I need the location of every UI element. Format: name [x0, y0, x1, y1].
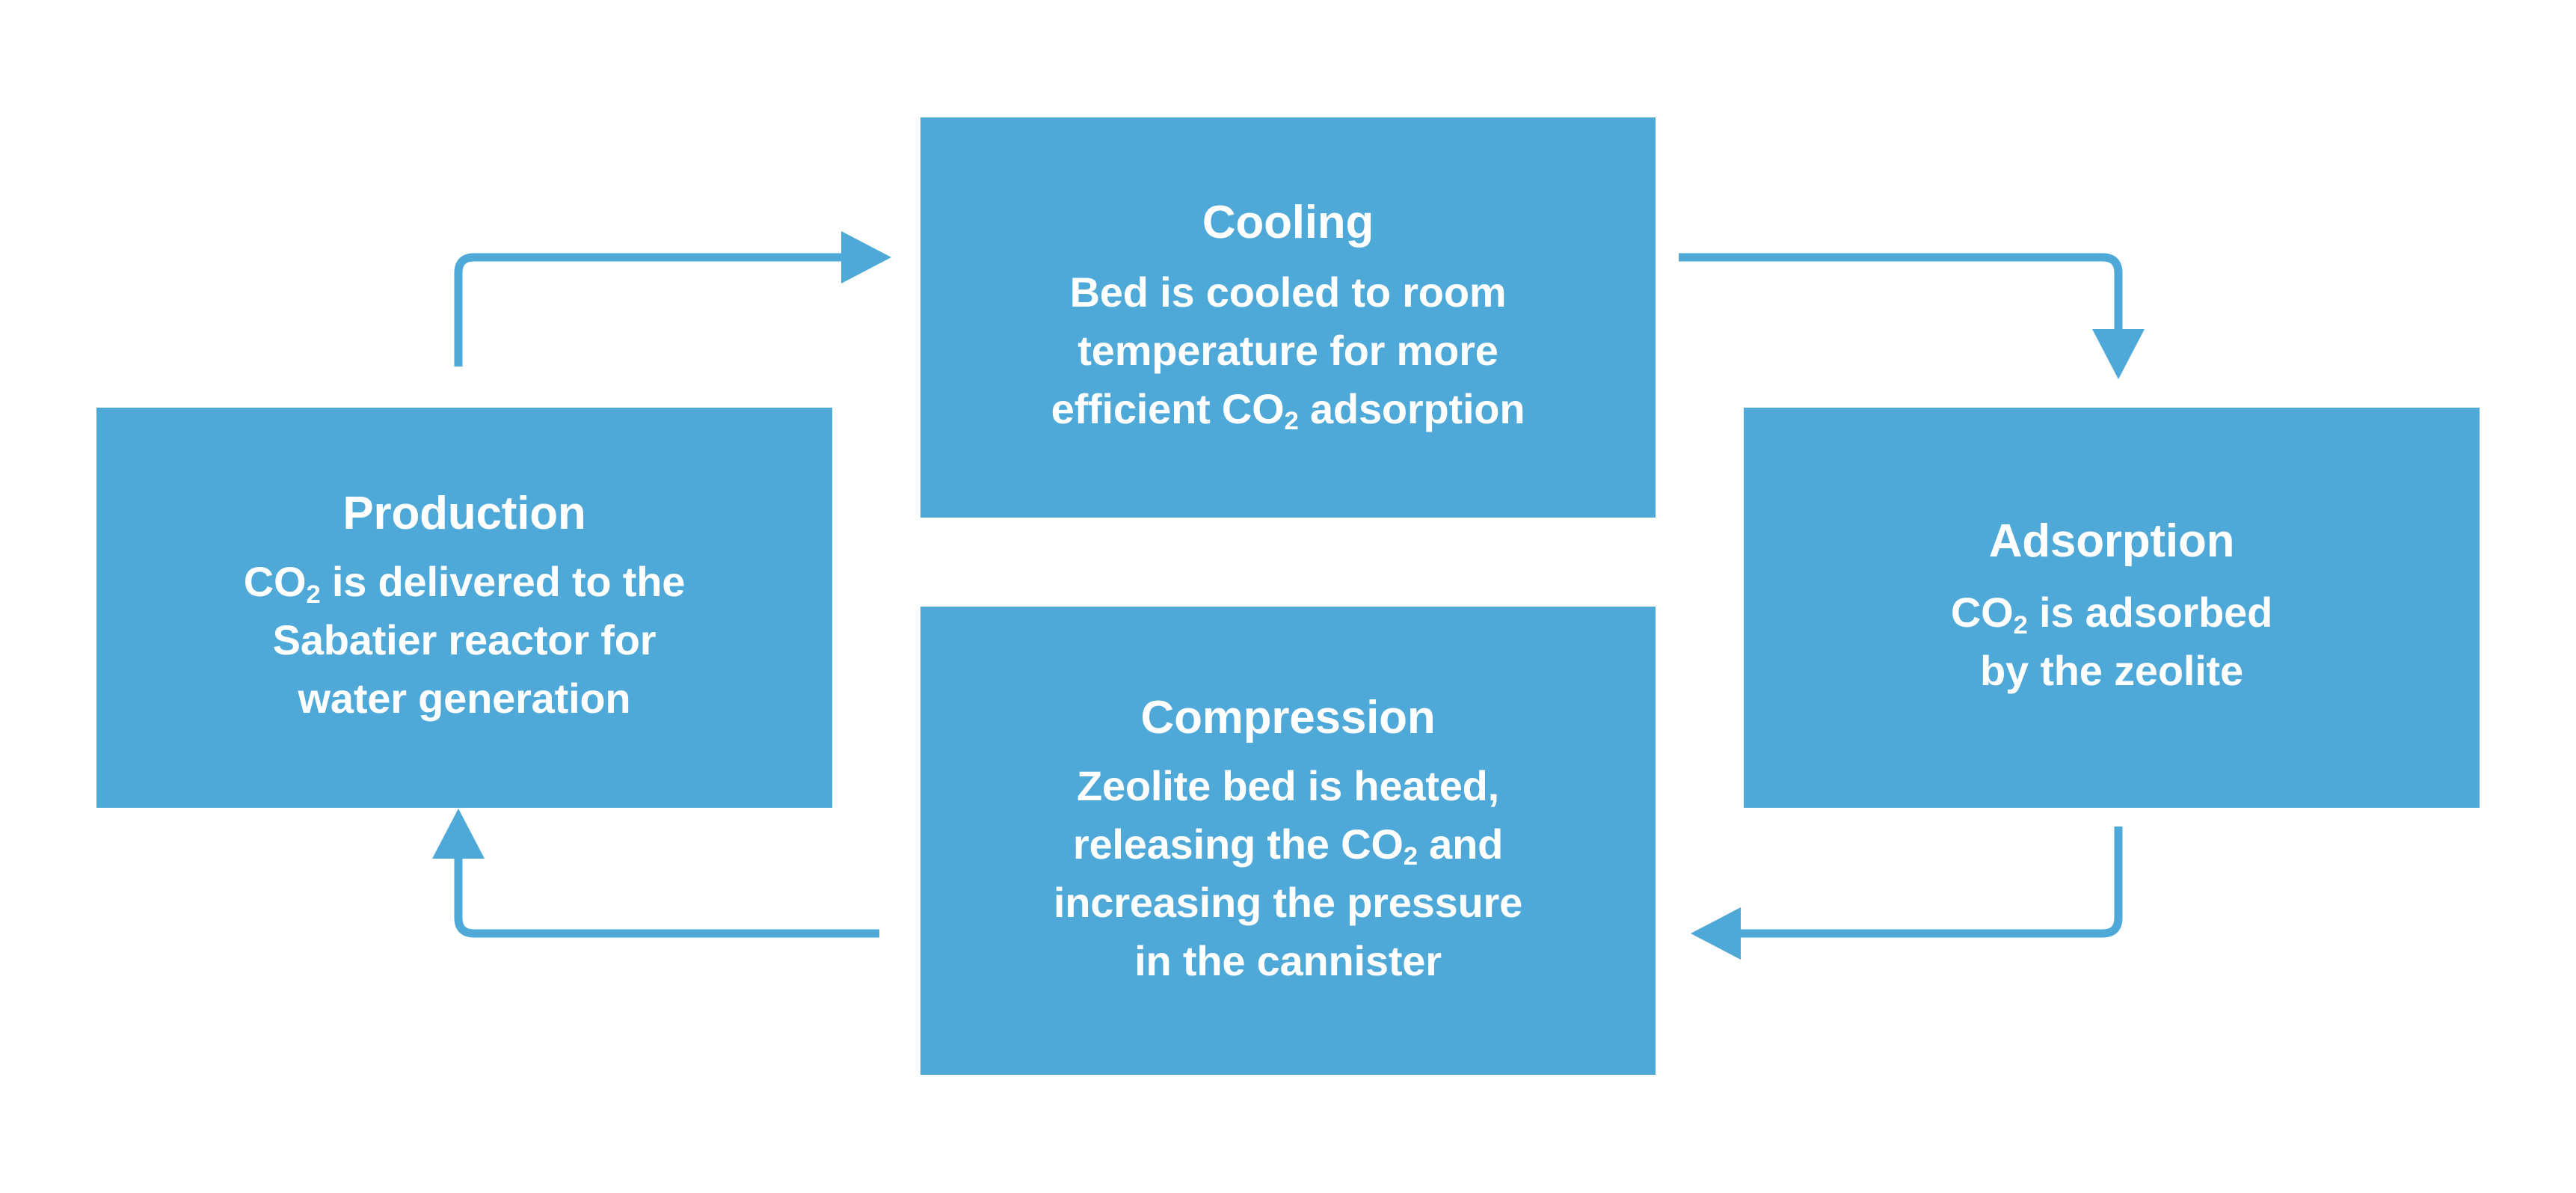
node-adsorption-desc-subscript: 2	[2014, 611, 2028, 640]
node-cooling-title: Cooling	[1202, 197, 1374, 248]
node-cooling[interactable]: Cooling Bed is cooled to room temperatur…	[920, 117, 1656, 518]
node-adsorption[interactable]: Adsorption CO2 is adsorbed by the zeolit…	[1744, 408, 2480, 808]
node-cooling-desc-subscript: 2	[1285, 407, 1299, 435]
node-production-desc-part2: is delivered to the Sabatier reactor for…	[273, 558, 686, 722]
node-production-desc-part1: CO	[244, 558, 307, 605]
arrow-cooling-to-adsorption	[1679, 257, 2145, 379]
node-production-title: Production	[342, 488, 585, 539]
node-cooling-description: Bed is cooled to room temperature for mo…	[1051, 263, 1525, 438]
node-adsorption-description: CO2 is adsorbed by the zeolite	[1951, 583, 2272, 700]
diagram-canvas: Production CO2 is delivered to the Sabat…	[0, 0, 2576, 1193]
node-production[interactable]: Production CO2 is delivered to the Sabat…	[96, 408, 832, 808]
node-compression-desc-subscript: 2	[1404, 842, 1418, 871]
node-compression-description: Zeolite bed is heated, releasing the CO2…	[1054, 757, 1522, 990]
node-production-desc-subscript: 2	[306, 580, 320, 609]
node-adsorption-desc-part1: CO	[1951, 589, 2014, 636]
arrow-production-to-cooling	[458, 231, 891, 367]
node-production-description: CO2 is delivered to the Sabatier reactor…	[244, 553, 685, 727]
arrow-adsorption-to-compression	[1691, 826, 2118, 960]
node-compression-title: Compression	[1141, 692, 1436, 743]
node-adsorption-desc-part2: is adsorbed by the zeolite	[1980, 589, 2272, 694]
arrow-compression-to-production	[432, 809, 879, 933]
node-cooling-desc-part2: adsorption	[1299, 385, 1525, 432]
node-adsorption-title: Adsorption	[1989, 515, 2235, 567]
node-compression[interactable]: Compression Zeolite bed is heated, relea…	[920, 607, 1656, 1075]
